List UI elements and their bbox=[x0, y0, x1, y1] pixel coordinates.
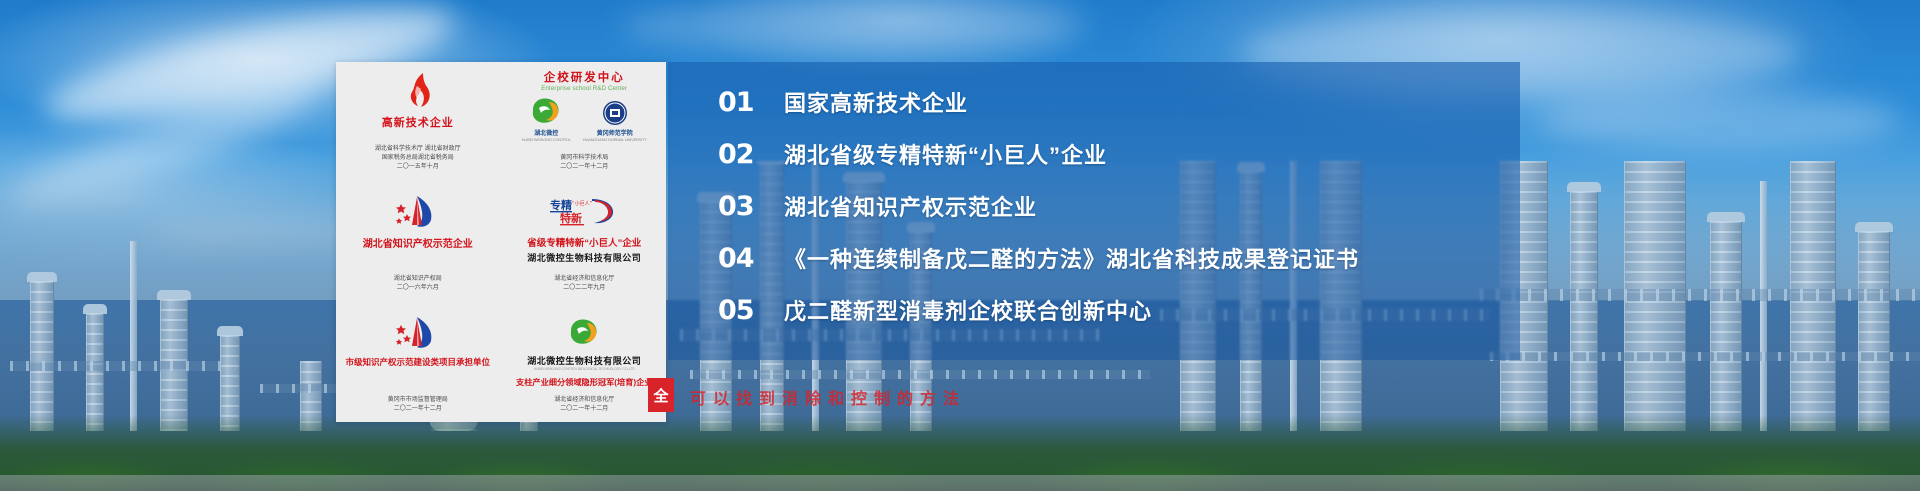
certificate-issuer: 黄冈市市场监督管理局 二〇二一年十二月 bbox=[388, 396, 448, 414]
certificate-issuer: 湖北省经济和信息化厅 二〇二一年十二月 bbox=[554, 396, 614, 414]
honor-item[interactable]: 04 《一种连续制备戊二醛的方法》湖北省科技成果登记证书 bbox=[718, 242, 1500, 294]
specialized-new-icon: 专精 “小巨人” 特新 bbox=[548, 196, 620, 226]
certificate-hidden-champion-cultivation[interactable]: 湖北微控生物科技有限公司 HUBEI WEIKONG CONTROL BIOLO… bbox=[503, 304, 667, 422]
honors-banner: 高新技术企业 湖北省科学技术厅 湖北省财政厅 国家税务总局湖北省税务局 二〇一五… bbox=[0, 0, 1920, 491]
certificate-issuer: 湖北省科学技术厅 湖北省财政厅 国家税务总局湖北省税务局 二〇一五年十月 bbox=[375, 145, 461, 172]
zhuanjingtexin-logo: 专精 “小巨人” 特新 bbox=[548, 190, 620, 232]
distillation-tower bbox=[1710, 221, 1742, 431]
certificate-hubei-ip-demonstration-enterprise[interactable]: 湖北省知识产权示范企业 湖北省知识产权局 二〇一六年六月 bbox=[336, 183, 500, 301]
honor-item[interactable]: 05 戊二醛新型消毒剂企校联合创新中心 bbox=[718, 294, 1500, 346]
rocket-star-logo bbox=[395, 190, 441, 232]
certificate-issuer: 湖北省经济和信息化厅 二〇二二年九月 bbox=[554, 275, 614, 293]
honor-label: 戊二醛新型消毒剂企校联合创新中心 bbox=[784, 294, 1152, 326]
certificate-title-en: Enterprise school R&D Center bbox=[541, 86, 627, 92]
logo-caption: 湖北微控 bbox=[534, 128, 558, 137]
certificate-title: 企校研发中心 bbox=[544, 69, 625, 85]
honor-label: 湖北省级专精特新“小巨人”企业 bbox=[784, 138, 1107, 170]
logo-caption-en: HUANGGANG NORMAL UNIVERSITY bbox=[583, 137, 647, 142]
certificate-company: 湖北微控生物科技有限公司 bbox=[527, 354, 641, 367]
leaf-logo bbox=[567, 311, 601, 353]
pipe-rack bbox=[1490, 352, 1920, 361]
honors-list: 01 国家高新技术企业 02 湖北省级专精特新“小巨人”企业 03 湖北省知识产… bbox=[718, 86, 1500, 346]
svg-text:特新: 特新 bbox=[560, 211, 582, 225]
distillation-tower bbox=[86, 313, 104, 431]
certificate-title: 市级知识产权示范建设类项目承担单位 bbox=[345, 356, 490, 368]
rocket-star-icon bbox=[395, 315, 441, 349]
huanggang-normal-university-logo: 黄冈师范学院 HUANGGANG NORMAL UNIVERSITY bbox=[583, 100, 647, 142]
certificate-provincial-little-giant[interactable]: 专精 “小巨人” 特新 省级专精特新“小巨人”企业 湖北微控生物科技有限公司 湖… bbox=[503, 183, 667, 301]
honor-number: 03 bbox=[718, 191, 784, 222]
svg-text:专精: 专精 bbox=[550, 198, 572, 212]
certificate-enterprise-school-rd-center[interactable]: 企校研发中心 Enterprise school R&D Center 湖北微控… bbox=[503, 62, 667, 180]
honor-number: 02 bbox=[718, 139, 784, 170]
certificate-issuer: 湖北省知识产权局 二〇一六年六月 bbox=[394, 275, 442, 293]
honor-number: 01 bbox=[718, 87, 784, 118]
slogan-badge: 全 bbox=[648, 378, 674, 412]
honors-panel: 01 国家高新技术企业 02 湖北省级专精特新“小巨人”企业 03 湖北省知识产… bbox=[668, 62, 1520, 360]
certificate-title: 高新技术企业 bbox=[382, 114, 454, 130]
certificate-company: 湖北微控生物科技有限公司 bbox=[527, 251, 641, 264]
logo-caption-en: HUBEI WEIKONG CONTROL bbox=[522, 137, 571, 142]
university-seal-icon bbox=[602, 100, 628, 126]
flame-icon bbox=[403, 72, 433, 108]
certificate-title: 湖北省知识产权示范企业 bbox=[363, 235, 473, 250]
certificate-title: 支柱产业细分领域隐形冠军(培育)企业 bbox=[516, 376, 652, 388]
cloud bbox=[1540, 90, 1900, 150]
distillation-tower bbox=[1570, 191, 1598, 431]
certificate-grid: 高新技术企业 湖北省科学技术厅 湖北省财政厅 国家税务总局湖北省税务局 二〇一五… bbox=[336, 62, 666, 422]
honor-item[interactable]: 02 湖北省级专精特新“小巨人”企业 bbox=[718, 138, 1500, 190]
hubei-weikong-logo: 湖北微控 HUBEI WEIKONG CONTROL bbox=[522, 96, 571, 142]
honor-label: 国家高新技术企业 bbox=[784, 86, 968, 118]
certificate-title: 省级专精特新“小巨人”企业 bbox=[527, 235, 641, 249]
certificate-company-en: HUBEI WEIKONG CONTROL BIOLOGICAL TECHNOL… bbox=[534, 367, 635, 371]
cloud bbox=[620, 0, 1080, 54]
honor-item[interactable]: 01 国家高新技术企业 bbox=[718, 86, 1500, 138]
exhaust-stack bbox=[1760, 181, 1767, 431]
rocket-star-logo bbox=[395, 311, 441, 353]
institution-logos: 湖北微控 HUBEI WEIKONG CONTROL 黄冈师范学院 HUANGG… bbox=[522, 96, 647, 142]
certificate-issuer: 黄冈市科学技术局 二〇二一年十二月 bbox=[560, 154, 608, 172]
svg-text:“小巨人”: “小巨人” bbox=[572, 200, 593, 207]
honor-label: 《一种连续制备戊二醛的方法》湖北省科技成果登记证书 bbox=[784, 242, 1359, 274]
honor-label: 湖北省知识产权示范企业 bbox=[784, 190, 1037, 222]
logo-caption: 黄冈师范学院 bbox=[597, 128, 633, 137]
slogan-text: 可以找到消除和控制的方法 bbox=[690, 385, 1370, 409]
distillation-tower bbox=[30, 281, 54, 431]
certificate-municipal-ip-demo-project[interactable]: 市级知识产权示范建设类项目承担单位 黄冈市市场监督管理局 二〇二一年十二月 bbox=[336, 304, 500, 422]
pipe-rack bbox=[1480, 289, 1920, 301]
certificate-high-tech-enterprise[interactable]: 高新技术企业 湖北省科学技术厅 湖北省财政厅 国家税务总局湖北省税务局 二〇一五… bbox=[336, 62, 500, 180]
rocket-star-icon bbox=[395, 194, 441, 228]
distillation-tower bbox=[1858, 231, 1890, 431]
leaf-duck-icon bbox=[529, 96, 563, 126]
road bbox=[0, 475, 1920, 491]
exhaust-stack bbox=[130, 241, 137, 431]
leaf-duck-icon bbox=[567, 317, 601, 347]
pipe-rack bbox=[690, 370, 1150, 379]
honor-number: 04 bbox=[718, 243, 784, 274]
flame-logo bbox=[403, 69, 433, 111]
honor-item[interactable]: 03 湖北省知识产权示范企业 bbox=[718, 190, 1500, 242]
pipe-rack bbox=[10, 361, 240, 371]
honor-number: 05 bbox=[718, 295, 784, 326]
